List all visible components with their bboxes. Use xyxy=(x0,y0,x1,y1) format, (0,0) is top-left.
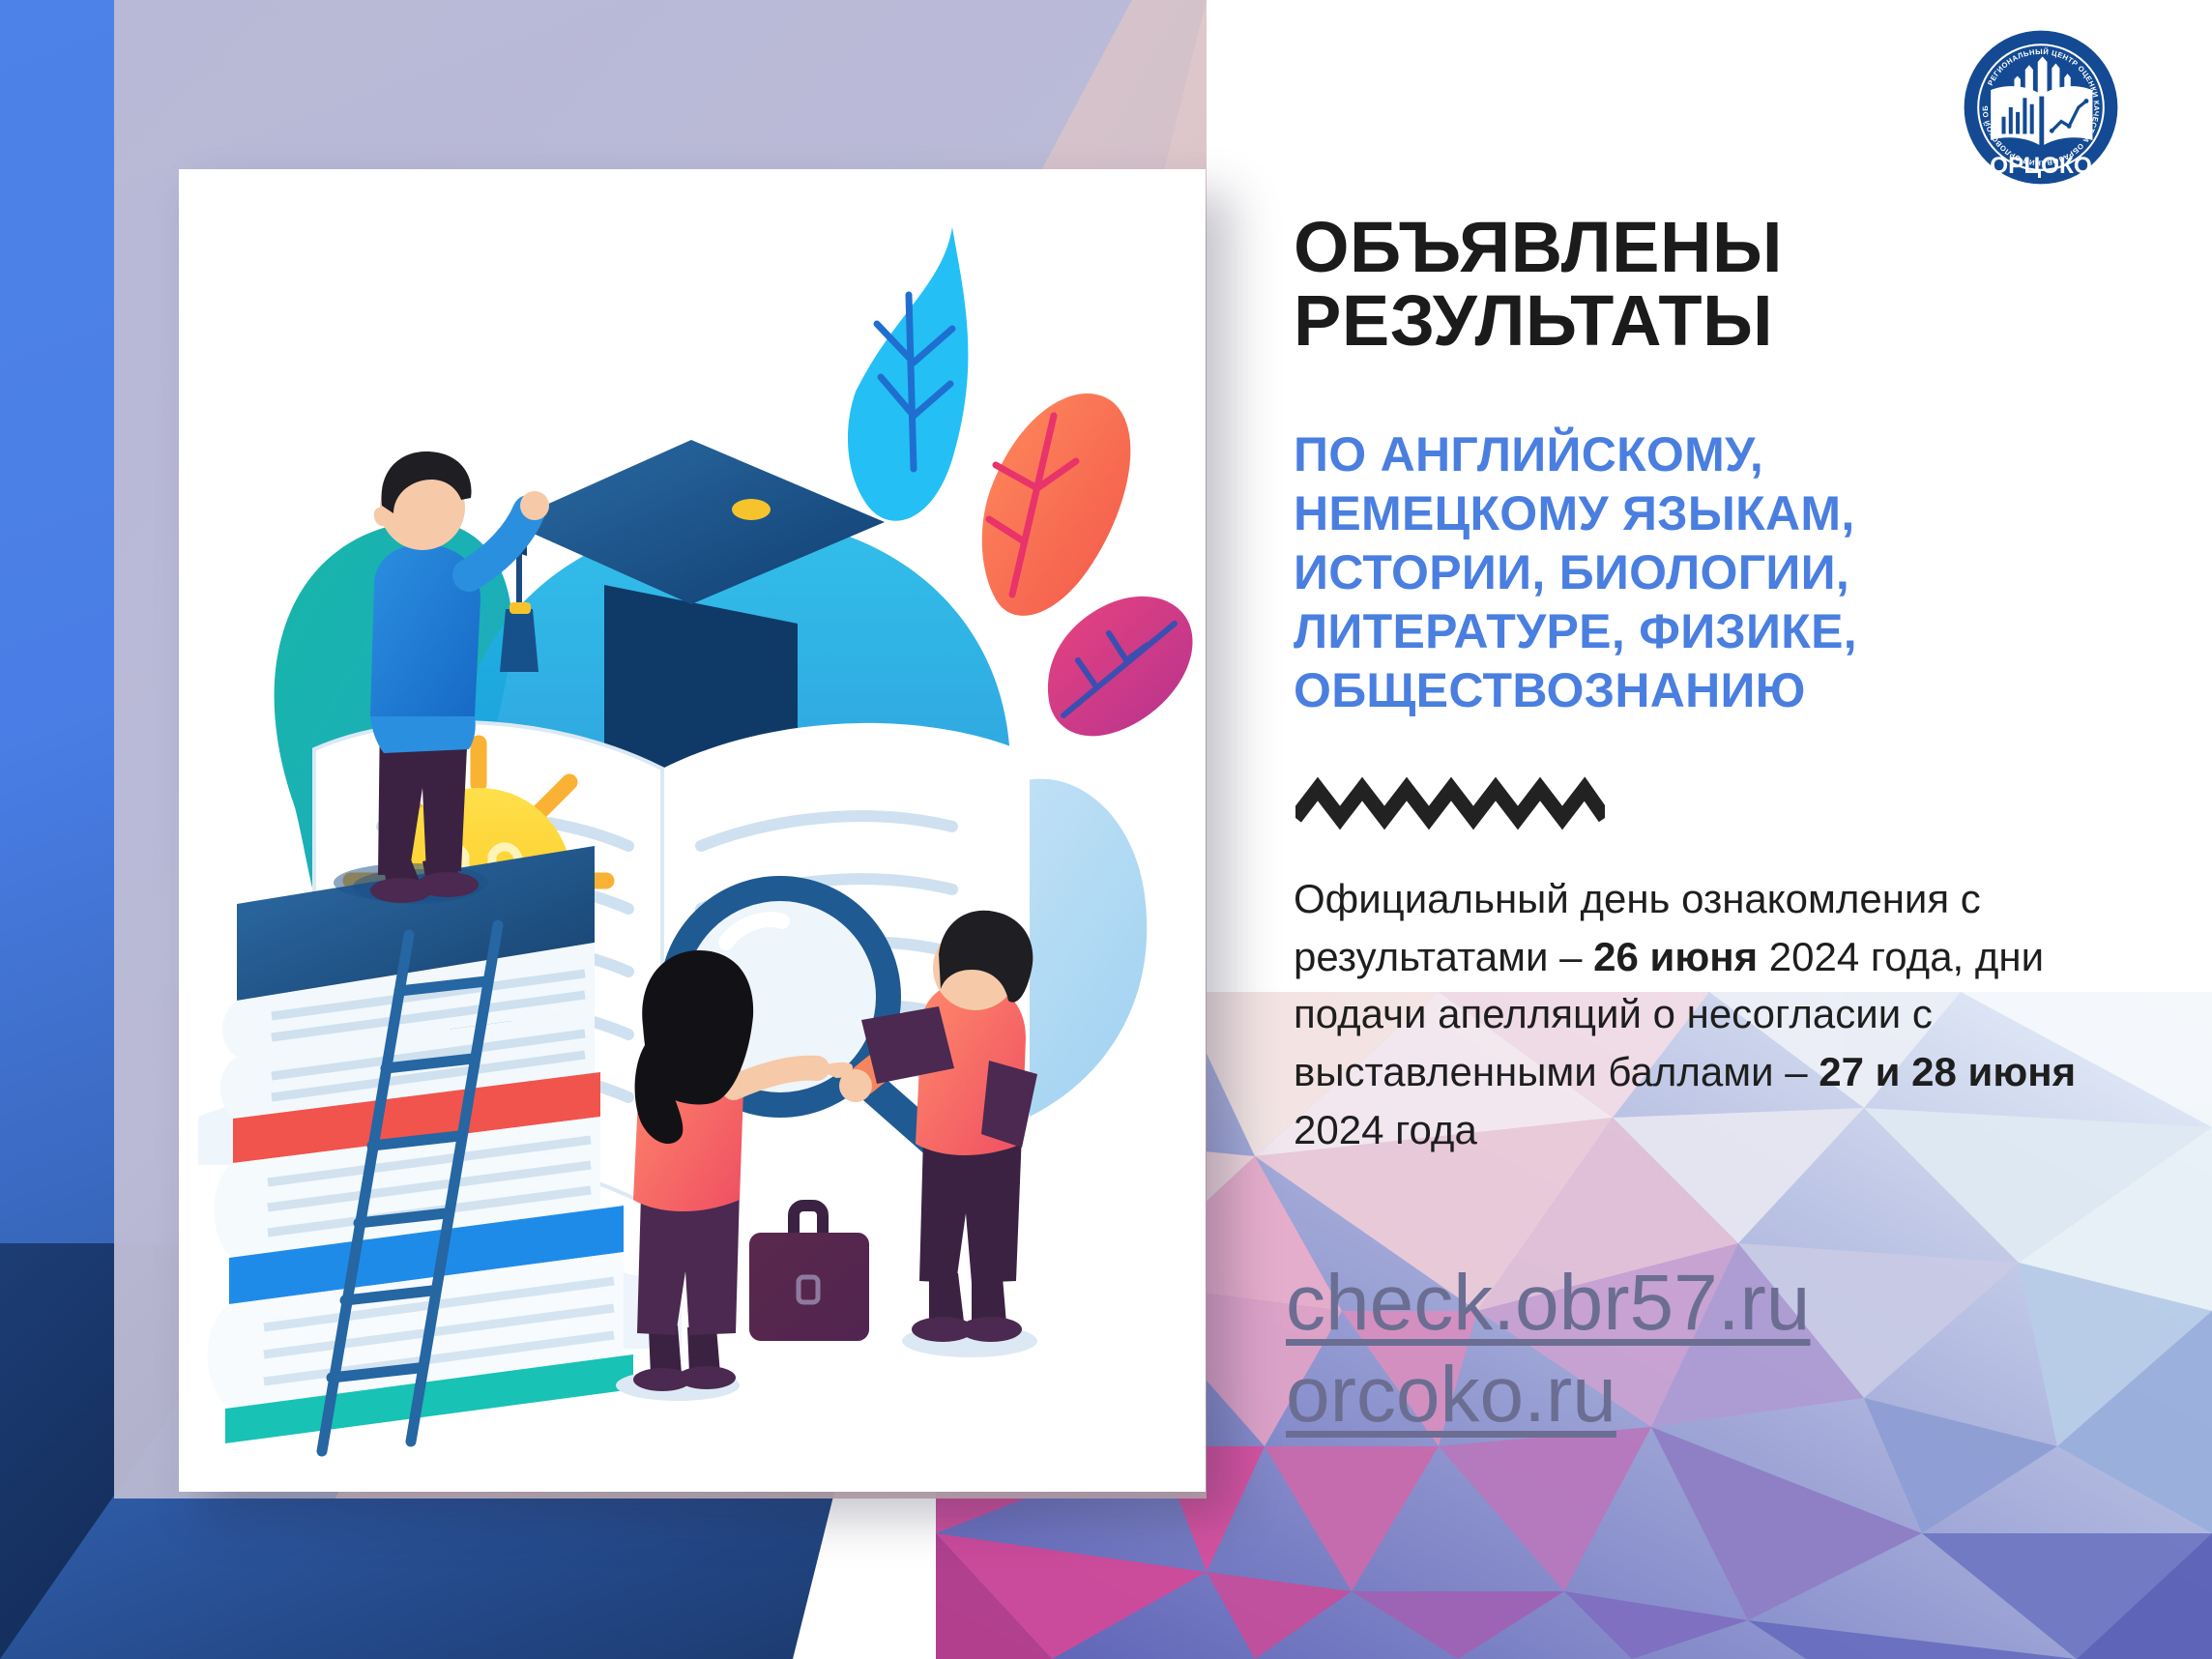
education-illustration xyxy=(179,169,1206,1492)
subject-line-3: ИСТОРИИ, БИОЛОГИИ, xyxy=(1294,543,2144,602)
subject-line-1: ПО АНГЛИЙСКОМУ, xyxy=(1294,425,2144,484)
page-title: ОБЪЯВЛЕНЫ РЕЗУЛЬТАТЫ xyxy=(1294,211,2144,358)
subject-line-4: ЛИТЕРАТУРЕ, ФИЗИКЕ, xyxy=(1294,602,2144,661)
orcoko-logo-icon: РЕГИОНАЛЬНЫЙ ЦЕНТР ОЦЕНКИ КАЧЕСТВА ОБРАЗ… xyxy=(1963,29,2119,186)
logo-abbr: ОРЦОКО xyxy=(1990,153,2091,179)
link-check-obr57[interactable]: check.obr57.ru xyxy=(1286,1257,2117,1349)
subject-list: ПО АНГЛИЙСКОМУ, НЕМЕЦКОМУ ЯЗЫКАМ, ИСТОРИ… xyxy=(1294,425,2144,720)
subject-line-2: НЕМЕЦКОМУ ЯЗЫКАМ, xyxy=(1294,484,2144,543)
headline-line-1: ОБЪЯВЛЕНЫ xyxy=(1294,211,2144,284)
link-orcoko[interactable]: orcoko.ru xyxy=(1286,1349,2117,1441)
subject-line-5: ОБЩЕСТВОЗНАНИЮ xyxy=(1294,661,2144,720)
body-date-1: 26 июня xyxy=(1593,934,1758,979)
body-date-2: 27 и 28 июня xyxy=(1819,1049,2076,1094)
content-column: РЕГИОНАЛЬНЫЙ ЦЕНТР ОЦЕНКИ КАЧЕСТВА ОБРАЗ… xyxy=(1294,0,2164,1659)
zigzag-icon xyxy=(1295,773,1605,833)
zigzag-divider xyxy=(1295,773,1605,833)
links-block: check.obr57.ru orcoko.ru xyxy=(1286,1257,2117,1441)
illustration-card xyxy=(179,169,1206,1492)
poster-root: РЕГИОНАЛЬНЫЙ ЦЕНТР ОЦЕНКИ КАЧЕСТВА ОБРАЗ… xyxy=(0,0,2212,1659)
headline-line-2: РЕЗУЛЬТАТЫ xyxy=(1294,284,2144,358)
announcement-text: Официальный день ознакомления с результа… xyxy=(1294,870,2096,1158)
orcoko-logo: РЕГИОНАЛЬНЫЙ ЦЕНТР ОЦЕНКИ КАЧЕСТВА ОБРАЗ… xyxy=(1963,29,2119,186)
body-part-3: 2024 года xyxy=(1294,1107,1477,1152)
